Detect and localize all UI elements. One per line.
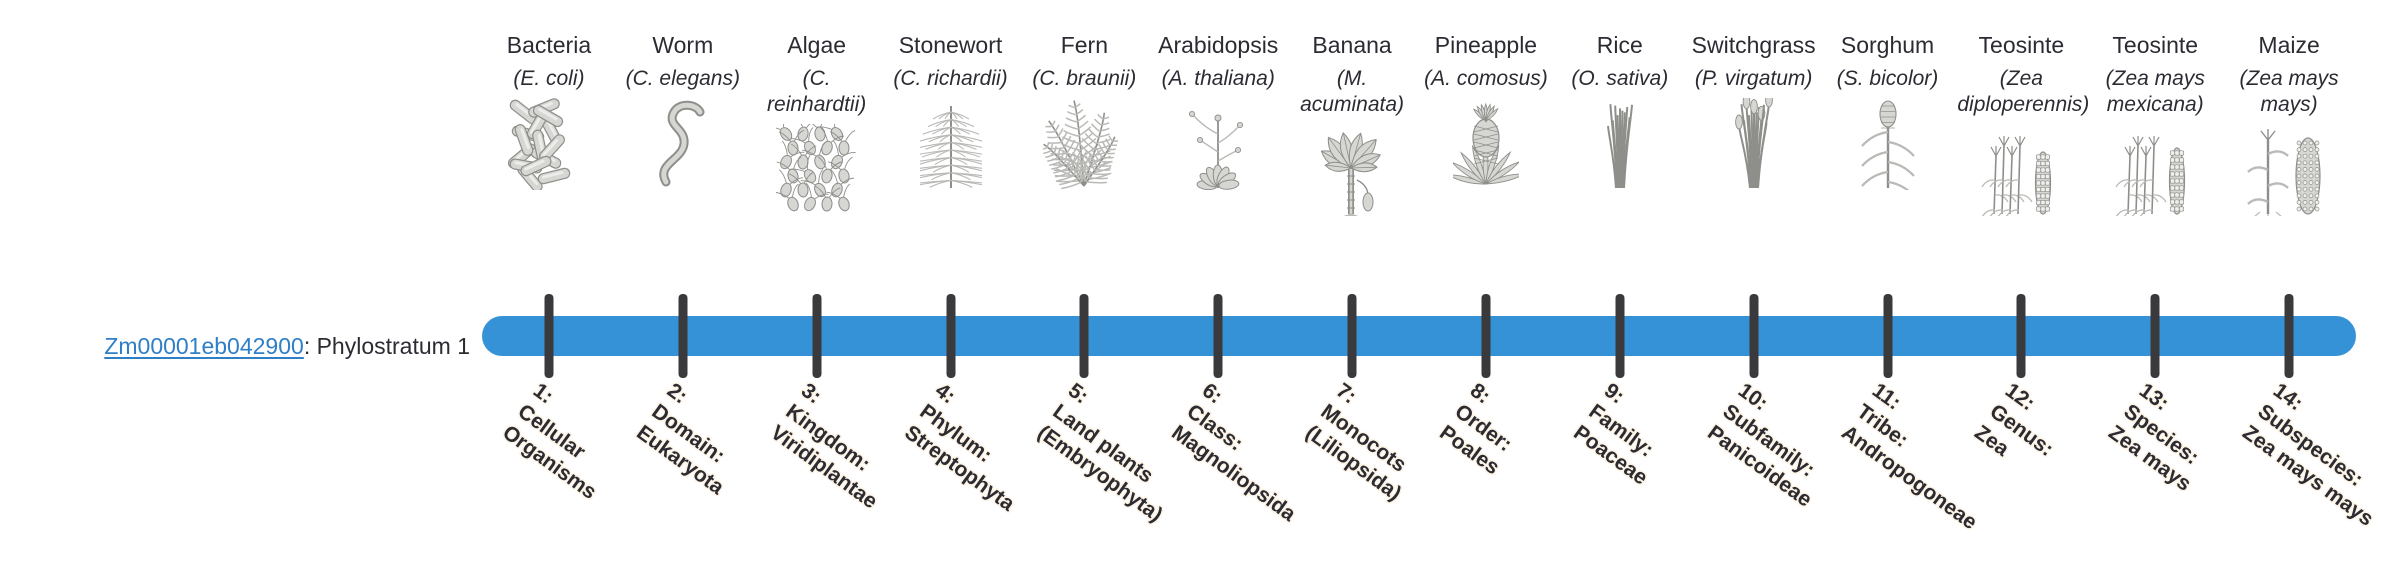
species-common-name: Sorghum bbox=[1841, 30, 1934, 60]
species-scientific-name: (Zea mays mexicana) bbox=[2091, 66, 2219, 118]
species-common-name: Pineapple bbox=[1435, 30, 1537, 60]
chlamydomonas-algae-illustration bbox=[751, 124, 883, 216]
species-scientific-name: (A. thaliana) bbox=[1162, 66, 1275, 92]
species-common-name: Fern bbox=[1061, 30, 1108, 60]
maize-plant-and-cob-illustration bbox=[2223, 124, 2355, 216]
species-scientific-name: (A. comosus) bbox=[1424, 66, 1548, 92]
rank-label: 1:CellularOrganisms bbox=[497, 378, 632, 506]
rank-label: 5:Land plants(Embryophyta) bbox=[1032, 378, 1198, 528]
species-scientific-name: (Zea diploperennis) bbox=[1957, 66, 2085, 118]
rank-label: 7:Monocots(Liliopsida) bbox=[1300, 378, 1436, 507]
species-common-name: Teosinte bbox=[1979, 30, 2065, 60]
fern-frond-illustration bbox=[1018, 98, 1150, 190]
species-column: Sorghum(S. bicolor) bbox=[1821, 30, 1955, 290]
species-scientific-name: (C. braunii) bbox=[1032, 66, 1136, 92]
species-common-name: Maize bbox=[2258, 30, 2319, 60]
rank-label: 8:Order:Poales bbox=[1434, 378, 1535, 481]
species-column: Banana(M. acuminata) bbox=[1285, 30, 1419, 290]
species-column: Arabidopsis(A. thaliana) bbox=[1151, 30, 1285, 290]
species-header-row: Bacteria(E. coli)Worm(C. elegans)Algae(C… bbox=[482, 30, 2356, 290]
species-column: Fern(C. braunii) bbox=[1017, 30, 1151, 290]
rank-label: 6:Class:Magnoliopsida bbox=[1166, 378, 1331, 528]
rank-label: 3:Kingdom:Viridiplantae bbox=[765, 378, 913, 515]
rank-label: 2:Domain:Eukaryota bbox=[631, 378, 759, 501]
species-scientific-name: (Zea mays mays) bbox=[2225, 66, 2353, 118]
species-common-name: Worm bbox=[652, 30, 713, 60]
switchgrass-illustration bbox=[1688, 98, 1820, 190]
species-scientific-name: (O. sativa) bbox=[1571, 66, 1668, 92]
species-common-name: Teosinte bbox=[2112, 30, 2198, 60]
species-column: Algae(C. reinhardtii) bbox=[750, 30, 884, 290]
taxonomic-rank-labels: 1:CellularOrganisms2:Domain:Eukaryota3:K… bbox=[482, 360, 2356, 580]
phylostratum-bar[interactable] bbox=[482, 316, 2356, 356]
rice-grass-illustration bbox=[1554, 98, 1686, 190]
rank-label: 13:Species:Zea mays bbox=[2103, 378, 2226, 497]
species-column: Worm(C. elegans) bbox=[616, 30, 750, 290]
species-scientific-name: (C. reinhardtii) bbox=[753, 66, 881, 118]
pineapple-plant-illustration bbox=[1420, 98, 1552, 190]
species-scientific-name: (M. acuminata) bbox=[1288, 66, 1416, 118]
teosinte-mexicana-plant-and-ear-illustration bbox=[2089, 124, 2221, 216]
banana-palm-illustration bbox=[1286, 124, 1418, 216]
species-column: Pineapple(A. comosus) bbox=[1419, 30, 1553, 290]
species-common-name: Bacteria bbox=[507, 30, 591, 60]
gene-phylostratum-value: Phylostratum 1 bbox=[317, 333, 470, 359]
species-scientific-name: (E. coli) bbox=[513, 66, 584, 92]
species-column: Teosinte(Zea mays mexicana) bbox=[2088, 30, 2222, 290]
species-common-name: Switchgrass bbox=[1692, 30, 1816, 60]
species-column: Teosinte(Zea diploperennis) bbox=[1954, 30, 2088, 290]
phylostratum-timeline-figure: Zm00001eb042900: Phylostratum 1 Bacteria… bbox=[0, 0, 2400, 580]
species-common-name: Algae bbox=[787, 30, 846, 60]
rank-label: 14:Subspecies:Zea mays mays bbox=[2237, 378, 2400, 532]
sorghum-illustration bbox=[1822, 98, 1954, 190]
species-column: Stonewort(C. richardii) bbox=[884, 30, 1018, 290]
bacteria-rods-illustration bbox=[483, 98, 615, 190]
species-scientific-name: (P. virgatum) bbox=[1695, 66, 1812, 92]
species-column: Maize(Zea mays mays) bbox=[2222, 30, 2356, 290]
species-column: Rice(O. sativa) bbox=[1553, 30, 1687, 290]
species-column: Switchgrass(P. virgatum) bbox=[1687, 30, 1821, 290]
species-common-name: Banana bbox=[1312, 30, 1391, 60]
rank-label: 4:Phylum:Streptophyta bbox=[899, 378, 1050, 517]
rank-label: 10:Subfamily:Panicoideae bbox=[1702, 378, 1847, 513]
gene-id-link[interactable]: Zm00001eb042900 bbox=[104, 333, 304, 359]
gene-separator: : bbox=[304, 333, 317, 359]
species-scientific-name: (S. bicolor) bbox=[1837, 66, 1939, 92]
species-common-name: Arabidopsis bbox=[1158, 30, 1278, 60]
arabidopsis-rosette-illustration bbox=[1152, 98, 1284, 190]
species-common-name: Stonewort bbox=[899, 30, 1003, 60]
phylostratum-bar-wrapper bbox=[482, 316, 2356, 356]
species-common-name: Rice bbox=[1597, 30, 1643, 60]
species-scientific-name: (C. richardii) bbox=[893, 66, 1007, 92]
rank-label: 9:Family:Poaceae bbox=[1568, 378, 1683, 491]
nematode-worm-illustration bbox=[617, 98, 749, 190]
gene-phylostratum-label: Zm00001eb042900: Phylostratum 1 bbox=[30, 332, 470, 360]
rank-label: 11:Tribe:Andropogoneae bbox=[1836, 378, 2012, 536]
species-column: Bacteria(E. coli) bbox=[482, 30, 616, 290]
teosinte-plant-and-ear-illustration bbox=[1955, 124, 2087, 216]
species-scientific-name: (C. elegans) bbox=[626, 66, 740, 92]
stonewort-illustration bbox=[885, 98, 1017, 190]
